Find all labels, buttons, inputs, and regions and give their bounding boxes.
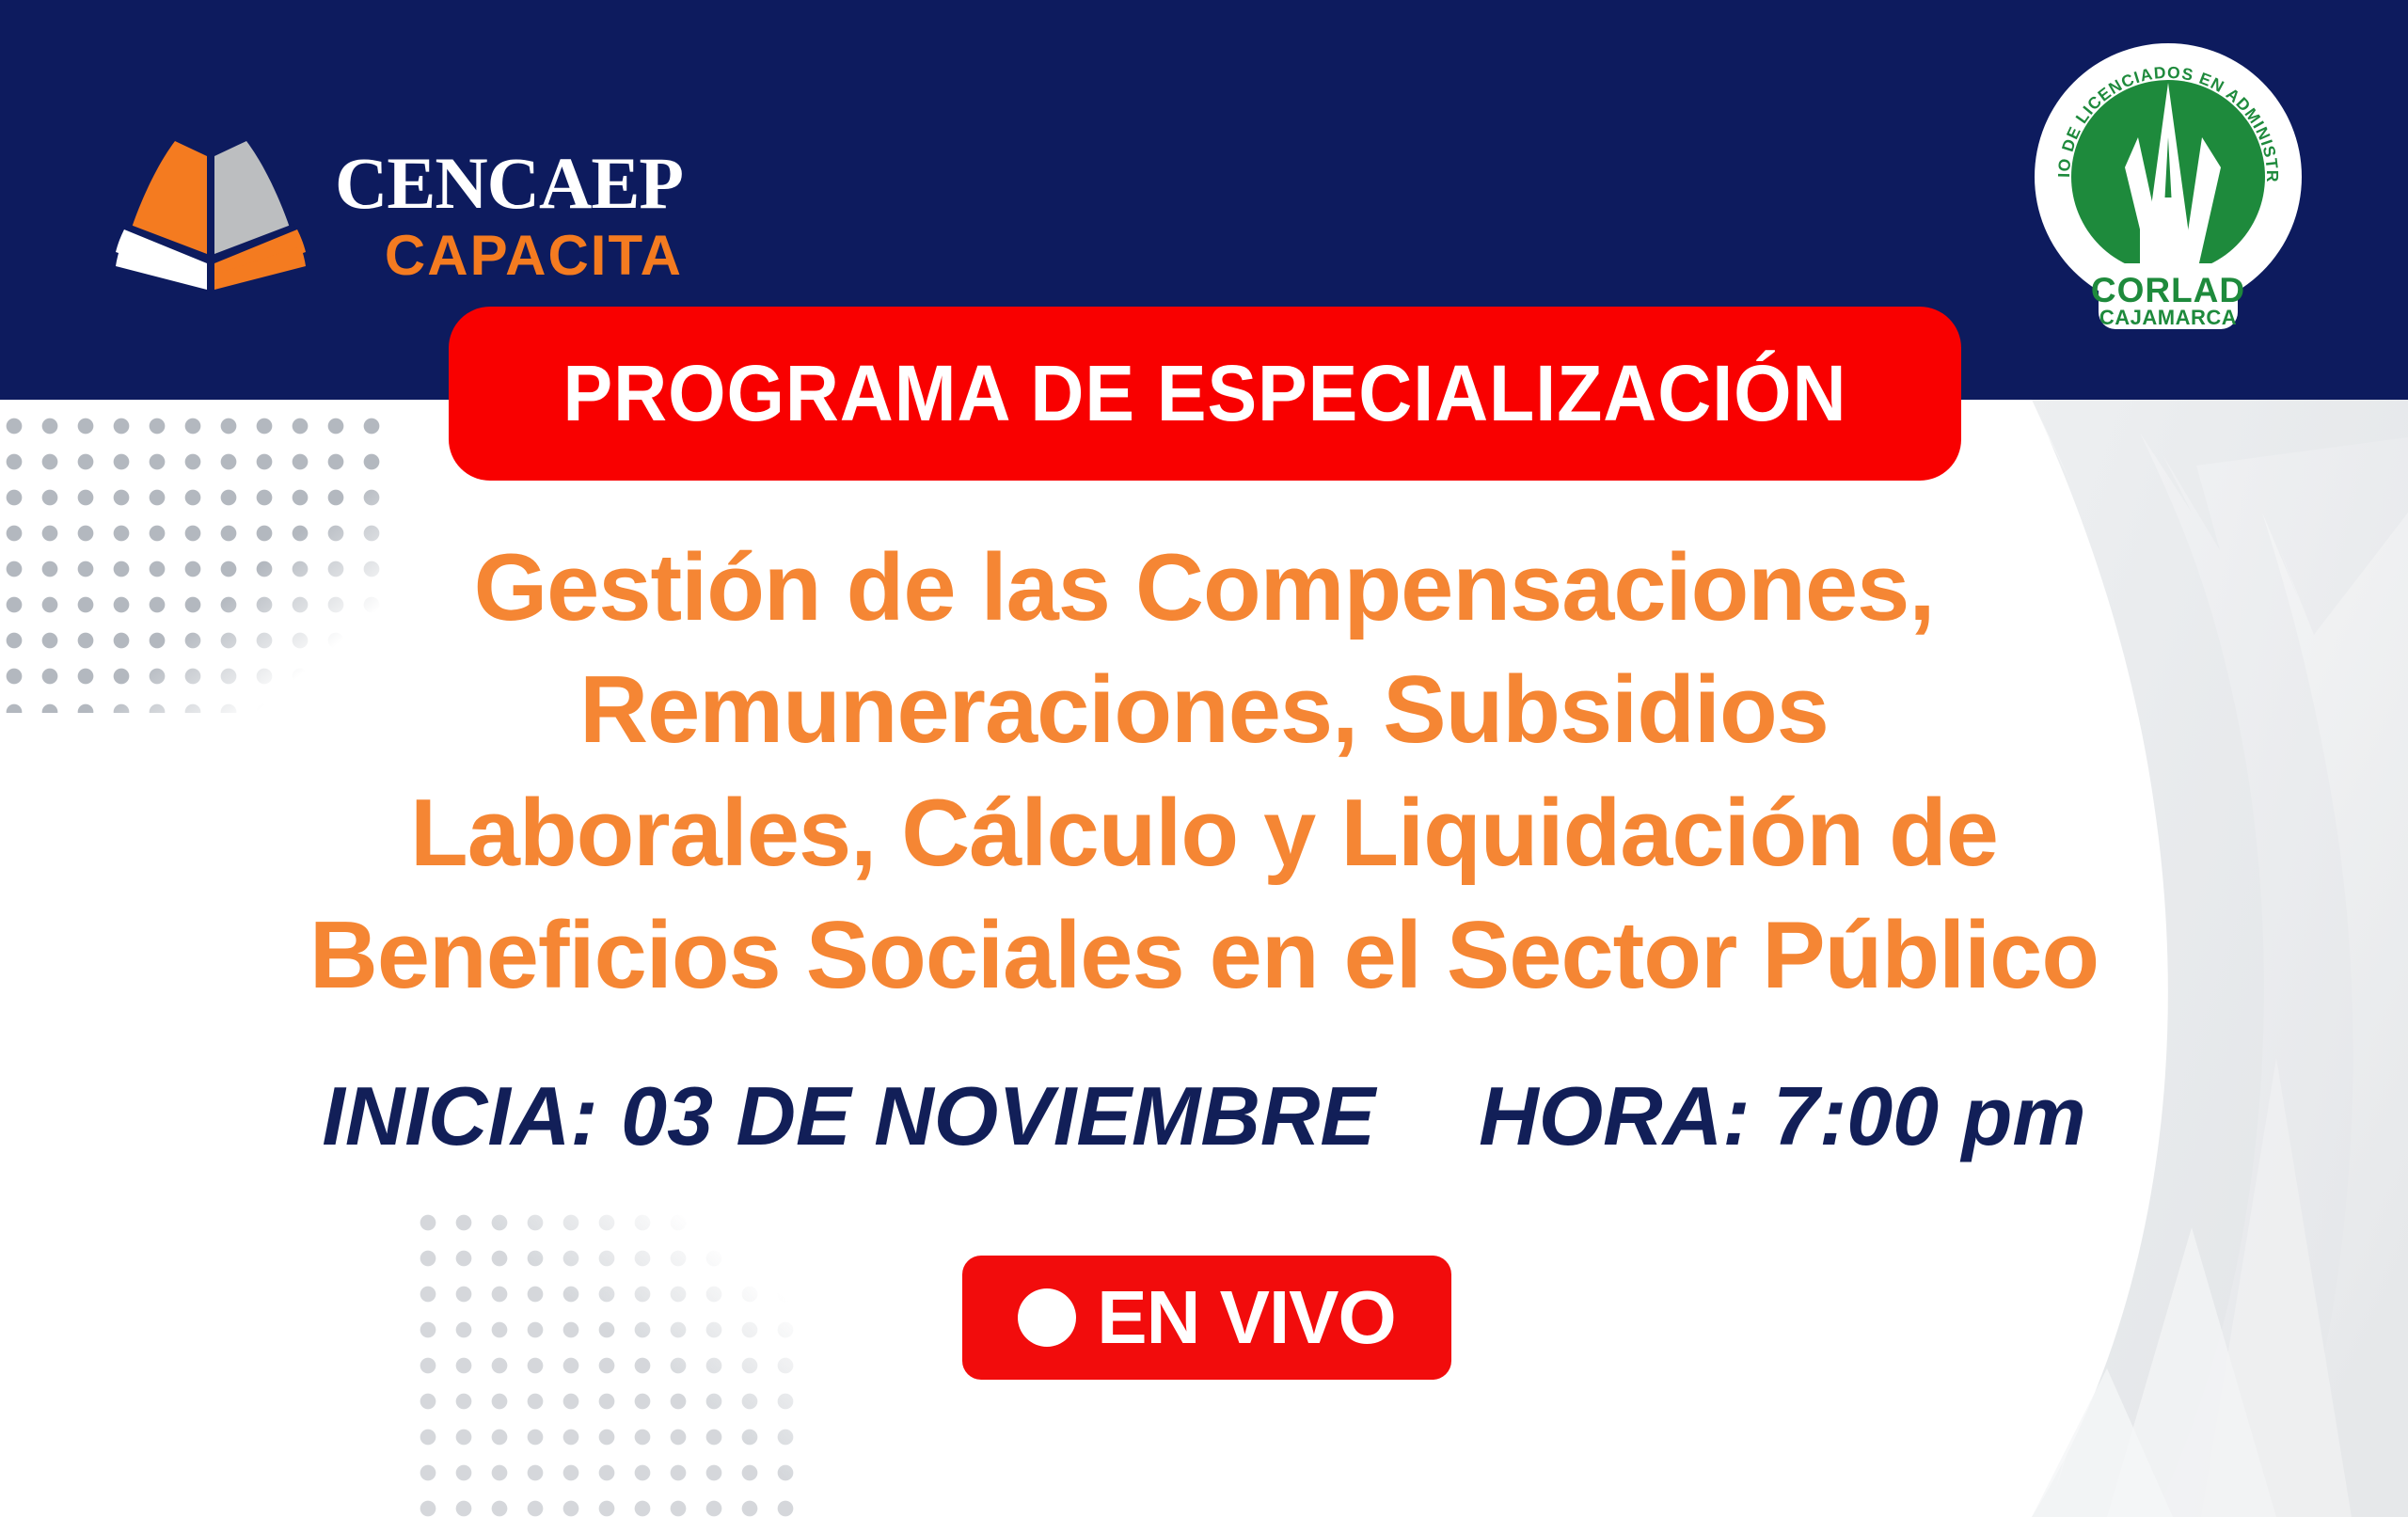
live-dot-icon [1018, 1288, 1076, 1347]
dot-grid-bottom [404, 1199, 809, 1517]
corlad-seal-icon: COLEGIO DE LICENCIADOS EN ADMINISTRACIÓN… [2027, 26, 2309, 337]
cencaep-logo: CENCAEP CAPACITA [113, 105, 828, 298]
live-badge: EN VIVO [962, 1256, 1451, 1380]
start-date: INICIA: 03 DE NOVIEMBRE [322, 1068, 1375, 1164]
program-banner: PROGRAMA DE ESPECIALIZACIÓN [449, 307, 1961, 481]
promo-poster: CENCAEP CAPACITA COLEGIO DE LICENCIADOS … [0, 0, 2408, 1517]
course-title: Gestión de las Compensaciones, Remunerac… [0, 527, 2408, 1017]
title-line-2: Remuneraciones, Subsidios [0, 649, 2408, 771]
title-line-4: Beneficios Sociales en el Sector Público [0, 894, 2408, 1017]
title-line-3: Laborales, Cálculo y Liquidación de [0, 772, 2408, 894]
title-line-1: Gestión de las Compensaciones, [0, 527, 2408, 649]
live-badge-label: EN VIVO [1097, 1274, 1396, 1361]
cencaep-wordmark: CENCAEP [335, 120, 683, 226]
program-banner-label: PROGRAMA DE ESPECIALIZACIÓN [563, 348, 1847, 439]
corlad-region: CAJAMARCA [2099, 306, 2237, 329]
corlad-acronym: CORLAD [2091, 271, 2245, 309]
start-time: HORA: 7:00 pm [1479, 1068, 2085, 1164]
cencaep-tagline: CAPACITA [335, 228, 683, 284]
open-book-icon [113, 113, 310, 292]
schedule-row: INICIA: 03 DE NOVIEMBRE HORA: 7:00 pm [0, 1068, 2408, 1164]
